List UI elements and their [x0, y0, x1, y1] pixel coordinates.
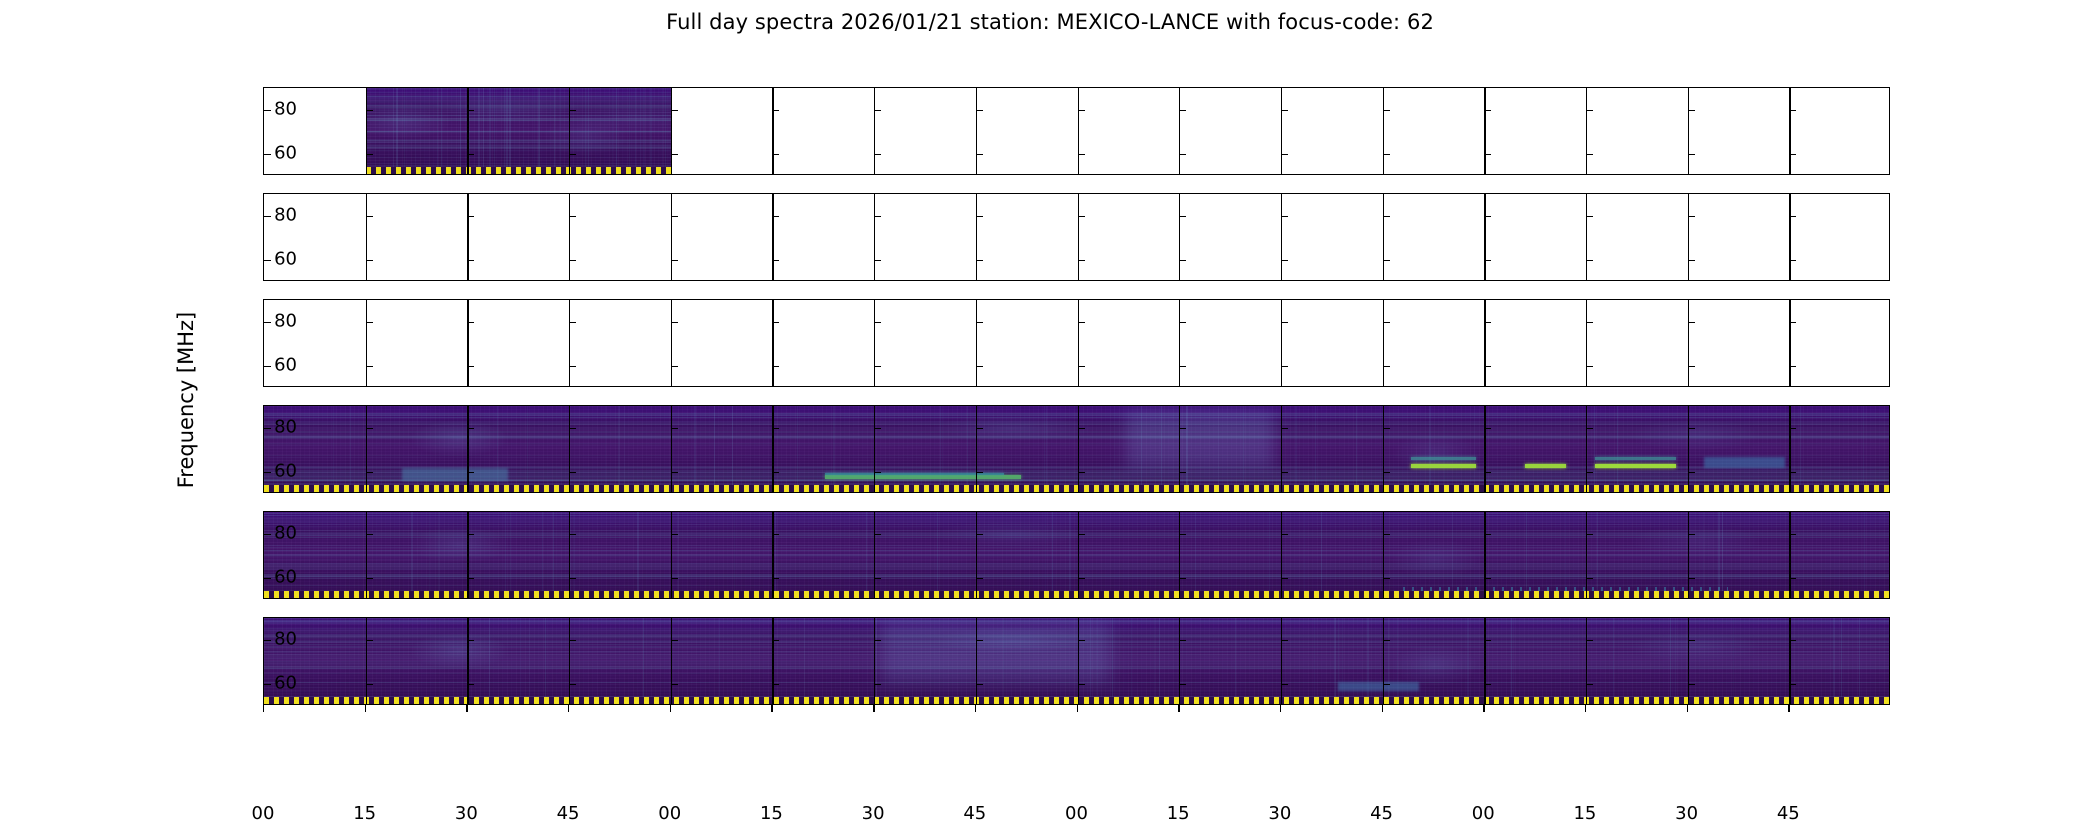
y-tick-mark [874, 578, 881, 579]
y-tick-mark [1484, 110, 1491, 111]
y-tick-mark [874, 534, 881, 535]
x-tick-label: 00 [252, 803, 275, 824]
segment-separator [874, 406, 875, 492]
y-tick-mark [569, 428, 576, 429]
x-tick-label: 45 [1370, 803, 1393, 824]
segment-separator [467, 300, 468, 386]
y-tick-label: 80 [274, 417, 297, 438]
y-tick-mark [467, 534, 474, 535]
y-tick-mark [1484, 260, 1491, 261]
y-tick-mark [1586, 684, 1593, 685]
y-tick-mark [772, 640, 779, 641]
y-tick-mark [1179, 472, 1186, 473]
y-tick-mark [1281, 110, 1288, 111]
y-tick-mark [264, 578, 271, 579]
y-tick-mark [772, 366, 779, 367]
y-tick-mark [1281, 640, 1288, 641]
y-tick-mark [467, 428, 474, 429]
y-tick-mark [874, 428, 881, 429]
segment-separator [1789, 194, 1790, 280]
y-tick-mark [1688, 684, 1695, 685]
segment-separator [467, 406, 468, 492]
y-tick-mark [1586, 260, 1593, 261]
segment-separator [874, 194, 875, 280]
y-tick-mark [1484, 428, 1491, 429]
segment-separator [467, 88, 468, 174]
y-tick-mark [467, 684, 474, 685]
y-tick-mark [772, 578, 779, 579]
y-tick-mark [1281, 260, 1288, 261]
x-tick-mark [263, 705, 264, 712]
y-tick-mark [671, 684, 678, 685]
y-tick-mark [264, 216, 271, 217]
x-tick-mark [670, 705, 671, 712]
y-tick-mark [1078, 366, 1085, 367]
y-tick-mark [1078, 472, 1085, 473]
y-tick-mark [467, 110, 474, 111]
x-tick-label: 45 [1777, 803, 1800, 824]
y-tick-mark [874, 110, 881, 111]
spectrogram-panel-08-11ut[interactable] [263, 299, 1890, 387]
segment-separator [671, 512, 672, 598]
segment-separator [1281, 300, 1282, 386]
y-tick-mark [1383, 578, 1390, 579]
y-tick-mark [1586, 322, 1593, 323]
y-tick-mark [569, 322, 576, 323]
y-tick-mark [1383, 154, 1390, 155]
segment-separator [671, 88, 672, 174]
y-tick-mark [1484, 216, 1491, 217]
segment-separator [1586, 194, 1587, 280]
segment-separator [569, 512, 570, 598]
y-tick-mark [569, 110, 576, 111]
segment-separator [467, 618, 468, 704]
y-tick-mark [1383, 640, 1390, 641]
y-tick-mark [1383, 110, 1390, 111]
segment-separator [874, 512, 875, 598]
y-tick-mark [874, 154, 881, 155]
x-tick-mark [873, 705, 874, 712]
y-tick-mark [1688, 216, 1695, 217]
segment-separator [1281, 618, 1282, 704]
x-tick-mark [1788, 705, 1789, 712]
y-tick-mark [264, 110, 271, 111]
segment-separator [1179, 406, 1180, 492]
y-tick-mark [976, 154, 983, 155]
y-tick-mark [671, 534, 678, 535]
y-tick-mark [366, 684, 373, 685]
y-tick-mark [976, 684, 983, 685]
y-tick-mark [366, 216, 373, 217]
segment-separator [569, 300, 570, 386]
y-tick-mark [874, 216, 881, 217]
segment-separator [1484, 618, 1485, 704]
y-tick-mark [1586, 534, 1593, 535]
segment-separator [976, 406, 977, 492]
y-tick-mark [976, 534, 983, 535]
y-tick-mark [1789, 640, 1796, 641]
x-tick-mark [1077, 705, 1078, 712]
segment-separator [772, 618, 773, 704]
y-tick-mark [874, 260, 881, 261]
y-tick-label: 60 [274, 673, 297, 694]
spectrogram-panel-16-19ut[interactable] [263, 511, 1890, 599]
y-tick-mark [976, 216, 983, 217]
segment-separator [1281, 512, 1282, 598]
y-tick-mark [366, 428, 373, 429]
y-tick-mark [569, 154, 576, 155]
y-tick-mark [1281, 154, 1288, 155]
x-tick-mark [1585, 705, 1586, 712]
x-tick-label: 30 [455, 803, 478, 824]
segment-separator [976, 194, 977, 280]
y-tick-label: 80 [274, 205, 297, 226]
y-tick-mark [366, 366, 373, 367]
y-tick-mark [366, 472, 373, 473]
y-tick-mark [874, 322, 881, 323]
y-tick-mark [1281, 428, 1288, 429]
y-tick-mark [1789, 472, 1796, 473]
y-tick-mark [1586, 640, 1593, 641]
segment-separator [772, 300, 773, 386]
y-tick-mark [772, 428, 779, 429]
y-tick-mark [772, 322, 779, 323]
x-tick-label: 30 [1675, 803, 1698, 824]
segment-separator [1789, 300, 1790, 386]
segment-separator [671, 618, 672, 704]
segment-separator [1688, 88, 1689, 174]
x-tick-mark [1483, 705, 1484, 712]
segment-separator [1586, 618, 1587, 704]
segment-separator [1484, 194, 1485, 280]
y-tick-mark [1484, 578, 1491, 579]
segment-separator [569, 406, 570, 492]
bottom-status-ribbon [366, 167, 671, 174]
y-tick-mark [1281, 684, 1288, 685]
segment-separator [569, 618, 570, 704]
y-tick-mark [1078, 216, 1085, 217]
y-tick-mark [1688, 472, 1695, 473]
y-tick-mark [1789, 684, 1796, 685]
segment-separator [1789, 406, 1790, 492]
y-tick-mark [1484, 472, 1491, 473]
y-tick-mark [1586, 366, 1593, 367]
y-tick-mark [772, 684, 779, 685]
y-tick-mark [1281, 216, 1288, 217]
segment-separator [976, 300, 977, 386]
y-tick-mark [671, 110, 678, 111]
segment-separator [1688, 406, 1689, 492]
y-tick-mark [1281, 366, 1288, 367]
page-title: Full day spectra 2026/01/21 station: MEX… [0, 10, 2100, 34]
y-tick-mark [671, 578, 678, 579]
y-tick-mark [467, 366, 474, 367]
segment-separator [772, 512, 773, 598]
raster-intensity-blotches [366, 88, 671, 174]
x-tick-label: 00 [1472, 803, 1495, 824]
y-tick-mark [1484, 322, 1491, 323]
y-tick-label: 60 [274, 249, 297, 270]
x-tick-mark [771, 705, 772, 712]
x-tick-mark [466, 705, 467, 712]
segment-separator [1484, 88, 1485, 174]
y-tick-mark [1179, 428, 1186, 429]
y-tick-mark [1789, 216, 1796, 217]
segment-separator [1484, 300, 1485, 386]
y-tick-mark [264, 472, 271, 473]
segment-separator [1078, 300, 1079, 386]
y-tick-mark [1688, 322, 1695, 323]
y-tick-label: 60 [274, 355, 297, 376]
y-tick-mark [569, 578, 576, 579]
y-tick-mark [1179, 578, 1186, 579]
y-tick-mark [1078, 428, 1085, 429]
y-tick-mark [772, 534, 779, 535]
segment-separator [976, 618, 977, 704]
y-tick-mark [1179, 322, 1186, 323]
y-tick-mark [1078, 578, 1085, 579]
segment-separator [1078, 88, 1079, 174]
x-tick-label: 15 [353, 803, 376, 824]
y-tick-mark [772, 110, 779, 111]
y-tick-mark [976, 366, 983, 367]
segment-separator [1789, 88, 1790, 174]
y-tick-mark [1789, 534, 1796, 535]
y-tick-mark [1179, 366, 1186, 367]
segment-separator [1179, 88, 1180, 174]
y-tick-mark [1383, 428, 1390, 429]
segment-separator [1688, 618, 1689, 704]
spectrogram-panel-04-07ut[interactable] [263, 193, 1890, 281]
y-tick-mark [569, 534, 576, 535]
x-tick-mark [1178, 705, 1179, 712]
y-tick-mark [1688, 578, 1695, 579]
y-tick-mark [366, 110, 373, 111]
y-tick-mark [1688, 640, 1695, 641]
x-tick-mark [1382, 705, 1383, 712]
x-tick-mark [365, 705, 366, 712]
y-tick-mark [671, 260, 678, 261]
y-tick-mark [772, 154, 779, 155]
y-tick-mark [569, 472, 576, 473]
y-tick-mark [467, 322, 474, 323]
y-tick-mark [366, 640, 373, 641]
y-tick-mark [1179, 110, 1186, 111]
segment-separator [366, 300, 367, 386]
y-tick-mark [1688, 366, 1695, 367]
segment-separator [976, 512, 977, 598]
y-tick-mark [1078, 154, 1085, 155]
y-tick-mark [467, 640, 474, 641]
segment-separator [366, 88, 367, 174]
segment-separator [1078, 194, 1079, 280]
segment-separator [467, 194, 468, 280]
y-tick-mark [976, 640, 983, 641]
segment-separator [1484, 512, 1485, 598]
segment-separator [1078, 406, 1079, 492]
y-tick-mark [366, 578, 373, 579]
y-tick-mark [1688, 428, 1695, 429]
y-tick-mark [671, 428, 678, 429]
y-tick-mark [1789, 578, 1796, 579]
y-tick-label: 60 [274, 461, 297, 482]
segment-separator [1281, 194, 1282, 280]
y-tick-mark [1484, 640, 1491, 641]
segment-separator [1179, 512, 1180, 598]
y-tick-label: 80 [274, 629, 297, 650]
y-tick-mark [1383, 322, 1390, 323]
segment-separator [671, 406, 672, 492]
spectrogram-panel-00-03ut[interactable] [263, 87, 1890, 175]
y-tick-mark [264, 640, 271, 641]
y-tick-mark [671, 640, 678, 641]
segment-separator [1179, 194, 1180, 280]
y-tick-mark [1789, 154, 1796, 155]
y-tick-mark [1789, 260, 1796, 261]
y-tick-mark [874, 640, 881, 641]
y-tick-mark [1383, 366, 1390, 367]
y-tick-mark [366, 322, 373, 323]
y-tick-mark [264, 154, 271, 155]
y-tick-mark [976, 260, 983, 261]
segment-separator [1586, 300, 1587, 386]
segment-separator [1078, 618, 1079, 704]
y-tick-mark [1484, 366, 1491, 367]
y-tick-mark [1179, 640, 1186, 641]
y-tick-label: 80 [274, 523, 297, 544]
y-tick-mark [671, 154, 678, 155]
segment-separator [366, 406, 367, 492]
segment-separator [569, 194, 570, 280]
y-tick-mark [1586, 216, 1593, 217]
x-tick-mark [1280, 705, 1281, 712]
y-tick-mark [1484, 684, 1491, 685]
spectrogram-panel-stack: 608000-03UT608004-07UT608008-11UT608012-… [263, 87, 1890, 707]
segment-separator [1179, 300, 1180, 386]
x-tick-mark [1687, 705, 1688, 712]
y-tick-mark [671, 472, 678, 473]
y-tick-mark [467, 472, 474, 473]
segment-separator [1281, 406, 1282, 492]
y-tick-mark [264, 366, 271, 367]
segment-separator [1383, 88, 1384, 174]
segment-separator [1179, 618, 1180, 704]
segment-separator [671, 300, 672, 386]
segment-separator [772, 88, 773, 174]
y-tick-mark [366, 260, 373, 261]
segment-separator [1383, 618, 1384, 704]
x-tick-label: 30 [862, 803, 885, 824]
y-tick-mark [1383, 472, 1390, 473]
y-tick-mark [1281, 472, 1288, 473]
x-tick-label: 15 [1167, 803, 1190, 824]
x-tick-label: 15 [760, 803, 783, 824]
y-tick-mark [467, 578, 474, 579]
y-tick-mark [1383, 684, 1390, 685]
y-tick-mark [976, 110, 983, 111]
y-tick-mark [1586, 472, 1593, 473]
y-tick-mark [874, 472, 881, 473]
y-tick-mark [1688, 110, 1695, 111]
y-tick-mark [1484, 154, 1491, 155]
y-tick-mark [1078, 110, 1085, 111]
segment-separator [569, 88, 570, 174]
segment-separator [874, 88, 875, 174]
y-tick-label: 80 [274, 311, 297, 332]
spectrogram-panel-12-15ut[interactable] [263, 405, 1890, 493]
segment-separator [1586, 512, 1587, 598]
y-tick-mark [1688, 154, 1695, 155]
y-tick-mark [1179, 260, 1186, 261]
y-tick-mark [366, 154, 373, 155]
segment-separator [772, 406, 773, 492]
y-tick-mark [264, 322, 271, 323]
segment-separator [366, 512, 367, 598]
y-tick-mark [1484, 534, 1491, 535]
y-tick-mark [1586, 578, 1593, 579]
spectrogram-panel-20-23ut[interactable] [263, 617, 1890, 705]
y-tick-mark [1281, 534, 1288, 535]
segment-separator [1789, 618, 1790, 704]
y-tick-label: 60 [274, 567, 297, 588]
y-tick-mark [1383, 260, 1390, 261]
y-tick-mark [671, 366, 678, 367]
y-tick-mark [1078, 640, 1085, 641]
y-tick-mark [1281, 322, 1288, 323]
y-tick-mark [1383, 216, 1390, 217]
segment-separator [772, 194, 773, 280]
y-tick-mark [569, 640, 576, 641]
y-tick-mark [1586, 428, 1593, 429]
y-tick-mark [264, 428, 271, 429]
y-axis-label: Frequency [MHz] [174, 312, 198, 488]
y-tick-label: 60 [274, 143, 297, 164]
y-tick-mark [671, 216, 678, 217]
x-tick-label: 30 [1268, 803, 1291, 824]
y-tick-mark [976, 472, 983, 473]
y-tick-mark [467, 260, 474, 261]
y-tick-mark [1179, 216, 1186, 217]
y-tick-mark [1586, 110, 1593, 111]
segment-separator [1383, 300, 1384, 386]
y-tick-mark [1179, 154, 1186, 155]
y-tick-mark [1789, 366, 1796, 367]
y-tick-mark [976, 578, 983, 579]
x-tick-label: 15 [1573, 803, 1596, 824]
y-tick-mark [1078, 684, 1085, 685]
segment-separator [874, 618, 875, 704]
y-tick-mark [569, 216, 576, 217]
spectrogram-raster [366, 88, 671, 174]
y-tick-mark [1789, 322, 1796, 323]
segment-separator [1789, 512, 1790, 598]
y-tick-mark [1078, 322, 1085, 323]
y-tick-mark [569, 366, 576, 367]
segment-separator [366, 194, 367, 280]
segment-separator [976, 88, 977, 174]
y-tick-mark [1281, 578, 1288, 579]
y-tick-mark [1078, 260, 1085, 261]
y-tick-mark [1586, 154, 1593, 155]
segment-separator [874, 300, 875, 386]
x-tick-mark [975, 705, 976, 712]
y-tick-mark [874, 366, 881, 367]
y-tick-mark [264, 684, 271, 685]
segment-separator [1281, 88, 1282, 174]
y-tick-mark [772, 260, 779, 261]
y-tick-mark [569, 684, 576, 685]
y-tick-mark [671, 322, 678, 323]
